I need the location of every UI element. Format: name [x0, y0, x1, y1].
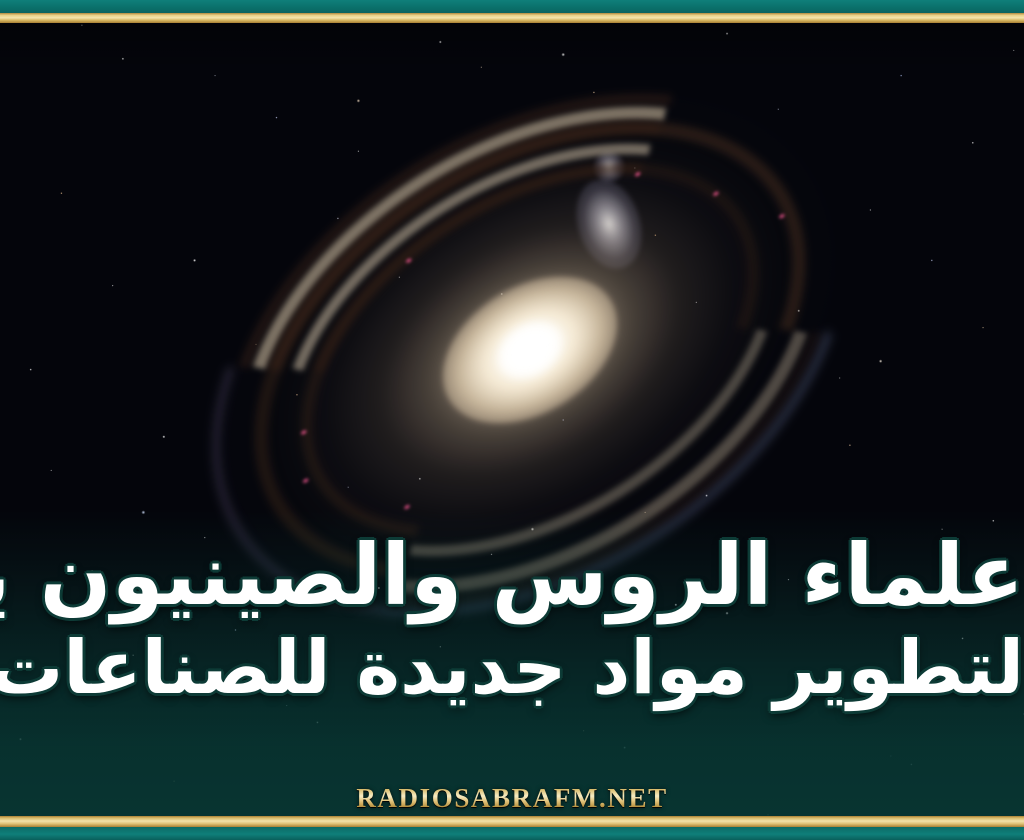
frame-band-top-gold [0, 13, 1024, 23]
site-url-text[interactable]: RADIOSABRAFM.NET [356, 783, 667, 814]
frame-band-bottom-gold [0, 816, 1024, 827]
frame-band-bottom-teal [0, 827, 1024, 840]
frame-band-top-teal [0, 0, 1024, 13]
site-url-block: RADIOSABRAFM.NET [0, 783, 1024, 814]
headline-line-2: لتطوير مواد جديدة للصناعات الفضائية [0, 631, 1024, 705]
banner-card: علماء الروس والصينيون يدرسون لتطوير مواد… [0, 0, 1024, 840]
headline-line-1: علماء الروس والصينيون يدرسون [0, 533, 1024, 617]
headline-block: علماء الروس والصينيون يدرسون لتطوير مواد… [0, 533, 1024, 705]
